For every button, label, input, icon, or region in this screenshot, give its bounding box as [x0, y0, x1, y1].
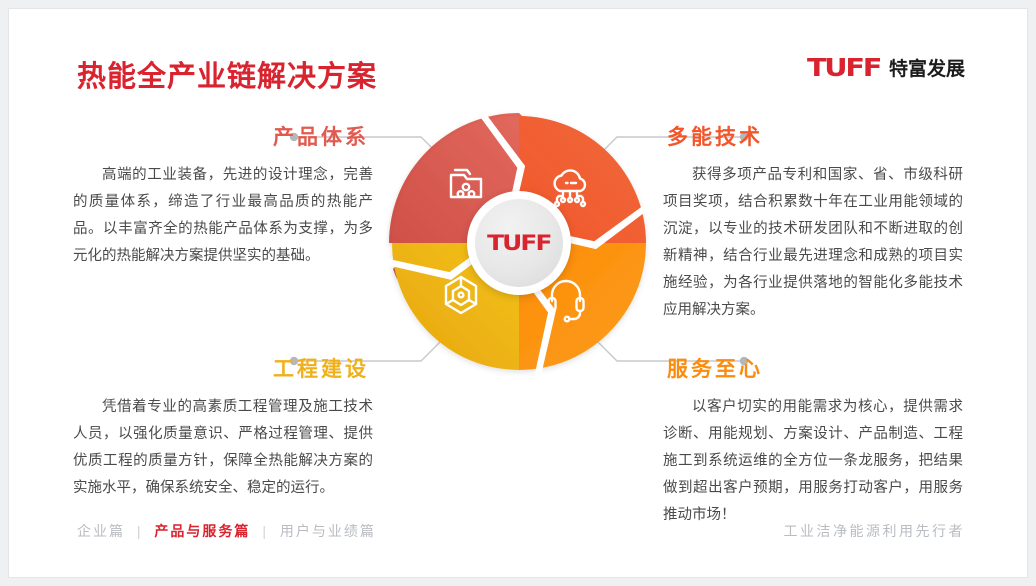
panel-body-engineering-construction: 凭借着专业的高素质工程管理及施工技术人员，以强化质量意识、严格过程管理、提供优质…: [73, 394, 373, 502]
brand-logo: TUFF 特富发展: [807, 53, 965, 82]
footer-nav-separator-1: |: [137, 523, 143, 539]
hub-wordmark: TUFF: [487, 231, 550, 255]
panel-body-product-system: 高端的工业装备，先进的设计理念，完善的质量体系，缔造了行业最高品质的热能产品。以…: [73, 162, 373, 270]
brand-name-cn: 特富发展: [889, 54, 965, 81]
panel-heading-multi-energy-tech: 多能技术: [663, 121, 963, 151]
footer-nav-item-users-performance[interactable]: 用户与业绩篇: [280, 523, 376, 539]
wheel-hub-inner: TUFF: [475, 199, 563, 287]
panel-multi-energy-tech: 多能技术 获得多项产品专利和国家、省、市级科研项目奖项，结合积累数十年在工业用能…: [663, 121, 963, 324]
footer-nav: 企业篇 | 产品与服务篇 | 用户与业绩篇: [77, 521, 376, 541]
panel-service-first: 服务至心 以客户切实的用能需求为核心，提供需求诊断、用能规划、方案设计、产品制造…: [663, 353, 963, 529]
panel-product-system: 产品体系 高端的工业装备，先进的设计理念，完善的质量体系，缔造了行业最高品质的热…: [73, 121, 373, 270]
footer-tagline: 工业洁净能源利用先行者: [784, 521, 966, 541]
segment-wheel: TUFF: [383, 107, 655, 379]
wheel-hub: TUFF: [467, 191, 571, 295]
slide-card: 热能全产业链解决方案 TUFF 特富发展: [8, 8, 1028, 578]
footer-nav-item-products-services[interactable]: 产品与服务篇: [154, 523, 250, 539]
panel-body-service-first: 以客户切实的用能需求为核心，提供需求诊断、用能规划、方案设计、产品制造、工程施工…: [663, 394, 963, 529]
page-title: 热能全产业链解决方案: [77, 53, 377, 95]
panel-heading-engineering-construction: 工程建设: [73, 353, 373, 383]
panel-engineering-construction: 工程建设 凭借着专业的高素质工程管理及施工技术人员，以强化质量意识、严格过程管理…: [73, 353, 373, 502]
brand-wordmark: TUFF: [807, 53, 880, 82]
panel-body-multi-energy-tech: 获得多项产品专利和国家、省、市级科研项目奖项，结合积累数十年在工业用能领域的沉淀…: [663, 162, 963, 324]
slide-header: 热能全产业链解决方案 TUFF 特富发展: [9, 9, 1027, 105]
footer-nav-separator-2: |: [262, 523, 268, 539]
panel-heading-product-system: 产品体系: [73, 121, 373, 151]
footer-nav-item-enterprise[interactable]: 企业篇: [77, 523, 125, 539]
panel-heading-service-first: 服务至心: [663, 353, 963, 383]
